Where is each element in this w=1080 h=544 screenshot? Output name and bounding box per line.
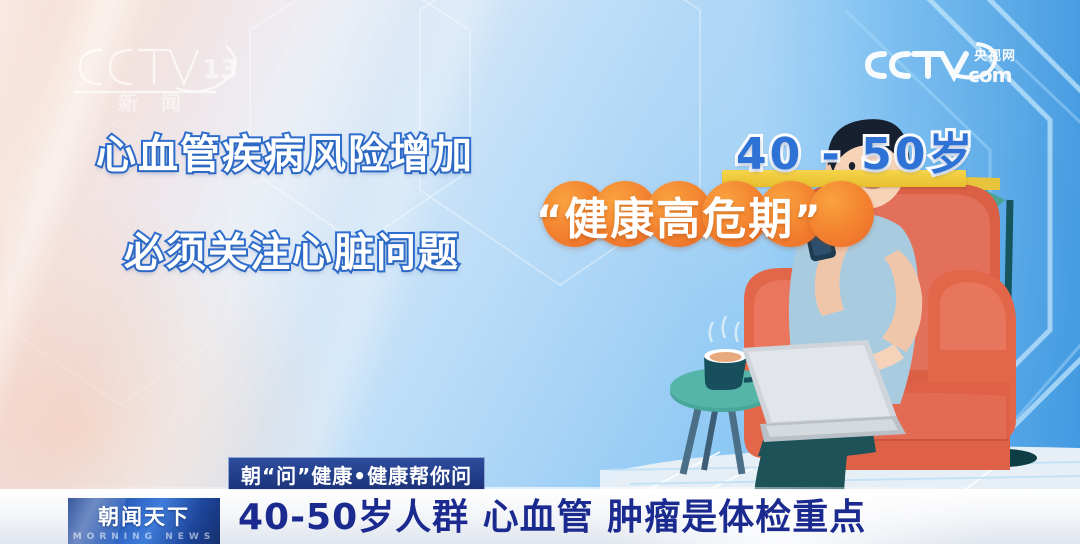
- cctv-com-logo: com 央视网: [862, 40, 1032, 88]
- show-logo: 朝闻天下 MORNING NEWS: [68, 498, 220, 544]
- bubble-text: “健康高危期”: [536, 183, 823, 247]
- svg-text:央视网: 央视网: [974, 48, 1016, 64]
- left-copy-block: 心血管疾病风险增加 必须关注心脏问题: [96, 134, 566, 274]
- broadcast-screenshot: 13 新 闻 com 央视网 心血管疾病风险增加 必须关注心脏问题 40 - 5…: [0, 0, 1080, 544]
- show-name-en: MORNING NEWS: [68, 532, 220, 542]
- cctv13-subtitle: 新 闻: [118, 91, 189, 112]
- svg-text:13: 13: [202, 55, 238, 85]
- bubble-open-quote: “: [536, 198, 564, 244]
- cctv13-logo: 13 新 闻: [66, 34, 246, 112]
- topic-bar: 朝“问”健康•健康帮你问: [228, 457, 485, 490]
- bubble-close-quote: ”: [794, 198, 822, 244]
- copy-line-1: 心血管疾病风险增加: [96, 134, 566, 176]
- topic-label: 朝“问”健康•健康帮你问: [241, 460, 472, 489]
- copy-line-2: 必须关注心脏问题: [124, 232, 566, 274]
- show-name-cn: 朝闻天下: [68, 501, 220, 531]
- bubble-main-text: 健康高危期: [564, 194, 794, 245]
- age-title: 40 - 50岁: [736, 118, 975, 182]
- news-headline: 40-50岁人群 心血管 肿瘤是体检重点: [238, 488, 866, 540]
- svg-text:com: com: [968, 63, 1012, 87]
